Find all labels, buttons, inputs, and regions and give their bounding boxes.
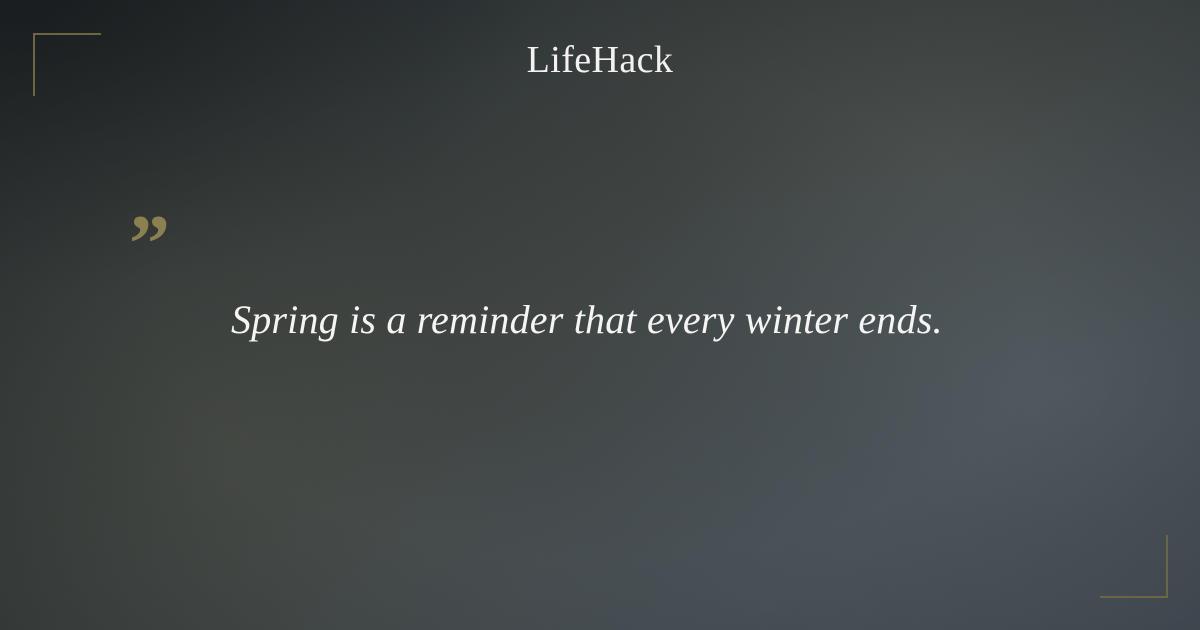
corner-bracket-bottom-right-icon <box>1100 535 1168 598</box>
quotation-mark-icon: ” <box>129 203 170 285</box>
brand-logo: LifeHack <box>0 41 1200 79</box>
quote-text: Spring is a reminder that every winter e… <box>231 296 991 345</box>
quote-card: LifeHack ” Spring is a reminder that eve… <box>0 0 1200 630</box>
